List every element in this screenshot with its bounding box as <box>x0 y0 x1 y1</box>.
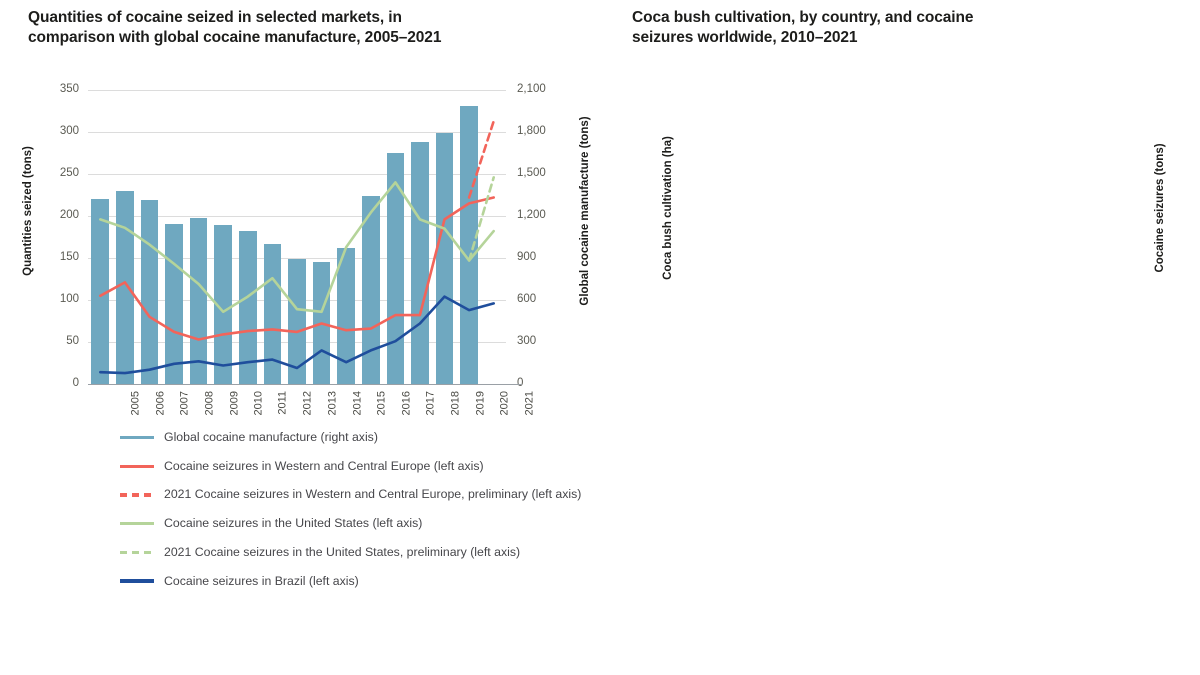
x-axis-tick-label: 2006 <box>154 391 166 415</box>
x-axis-tick-label: 2007 <box>179 391 191 415</box>
left-chart-title: Quantities of cocaine seized in selected… <box>28 8 448 49</box>
y-axis-secondary-tick-label: 300 <box>517 336 536 348</box>
bar-segment <box>190 218 208 384</box>
legend-line-key <box>120 465 154 468</box>
bar <box>362 90 380 384</box>
x-axis-tick-label: 2015 <box>376 391 388 415</box>
x-axis-tick-label: 2019 <box>474 391 486 415</box>
y-axis-secondary-tick-label: 1,800 <box>517 126 546 138</box>
bar-segment <box>362 196 380 384</box>
x-axis-tick-label: 2021 <box>523 391 535 415</box>
right-chart-panel: Coca bush cultivation, by country, and c… <box>600 0 1200 675</box>
legend-item-label: 2021 Cocaine seizures in Western and Cen… <box>164 487 581 503</box>
x-axis-tick-label: 2011 <box>276 391 288 415</box>
x-axis-tick-label: 2010 <box>253 391 265 415</box>
x-axis-tick-label: 2018 <box>449 391 461 415</box>
y-axis-secondary-tick-label: 900 <box>517 252 536 264</box>
x-axis-tick-label: 2014 <box>351 391 363 415</box>
left-plot-area: 050100150200250300350 03006009001,2001,5… <box>88 90 506 384</box>
x-axis-tick-label: 2009 <box>228 391 240 415</box>
right-chart-title: Coca bush cultivation, by country, and c… <box>632 8 1032 49</box>
bar-segment <box>288 259 306 384</box>
bar <box>239 90 257 384</box>
bar <box>91 90 109 384</box>
bar-segment <box>411 142 429 384</box>
y-axis-tick-label: 250 <box>60 168 79 180</box>
bar-segment <box>387 153 405 384</box>
bar-segment <box>436 133 454 384</box>
bar <box>387 90 405 384</box>
left-chart-legend-item: 2021 Cocaine seizures in Western and Cen… <box>120 487 590 503</box>
bar-segment <box>460 106 478 384</box>
legend-item-label: Cocaine seizures in the United States (l… <box>164 516 422 532</box>
left-y-axis-right-title: Global cocaine manufacture (tons) <box>579 96 591 326</box>
bar-segment <box>239 231 257 384</box>
left-chart-legend: Global cocaine manufacture (right axis)C… <box>120 430 590 602</box>
x-axis-tick-label: 2017 <box>425 391 437 415</box>
legend-line-swatch <box>120 516 154 531</box>
legend-item-label: Cocaine seizures in Brazil (left axis) <box>164 574 359 590</box>
bar-segment <box>313 262 331 384</box>
bar <box>190 90 208 384</box>
left-chart-legend-item: Cocaine seizures in Western and Central … <box>120 459 590 475</box>
left-chart-legend-item: Cocaine seizures in Brazil (left axis) <box>120 574 590 590</box>
bar <box>264 90 282 384</box>
left-x-axis-line <box>88 384 522 386</box>
legend-item-label: 2021 Cocaine seizures in the United Stat… <box>164 545 520 561</box>
left-y-axis-left-title: Quantities seized (tons) <box>22 121 34 301</box>
bar-segment <box>264 244 282 384</box>
y-axis-secondary-tick-label: 2,100 <box>517 84 546 96</box>
chart-page: Quantities of cocaine seized in selected… <box>0 0 1200 675</box>
x-axis-tick-label: 2012 <box>302 391 314 415</box>
legend-line-key <box>120 579 154 583</box>
bar <box>165 90 183 384</box>
legend-item-label: Global cocaine manufacture (right axis) <box>164 430 378 446</box>
legend-dashed-key <box>120 487 154 502</box>
y-axis-secondary-tick-label: 600 <box>517 294 536 306</box>
y-axis-tick-label: 50 <box>66 336 79 348</box>
x-axis-tick-label: 2016 <box>400 391 412 415</box>
bar-segment <box>214 225 232 384</box>
bar-segment <box>141 200 159 384</box>
bar <box>116 90 134 384</box>
x-axis-tick-label: 2013 <box>326 391 338 415</box>
legend-dashed-line-key <box>120 493 154 496</box>
left-chart-legend-item: Global cocaine manufacture (right axis) <box>120 430 590 446</box>
bar <box>214 90 232 384</box>
x-axis-tick-label: 2008 <box>204 391 216 415</box>
bar <box>436 90 454 384</box>
left-chart-legend-item: Cocaine seizures in the United States (l… <box>120 516 590 532</box>
legend-dashed-line-key <box>120 551 154 554</box>
left-chart-legend-item: 2021 Cocaine seizures in the United Stat… <box>120 545 590 561</box>
y-axis-tick-label: 0 <box>73 378 79 390</box>
legend-item-label: Cocaine seizures in Western and Central … <box>164 459 484 475</box>
bar-segment <box>116 191 134 384</box>
legend-line-key <box>120 436 154 439</box>
y-axis-secondary-tick-label: 1,200 <box>517 210 546 222</box>
x-axis-tick-label: 2020 <box>499 391 511 415</box>
bar <box>288 90 306 384</box>
legend-line-key <box>120 522 154 525</box>
x-axis-tick-label: 2005 <box>130 391 142 415</box>
y-axis-tick-label: 100 <box>60 294 79 306</box>
right-y-axis-left-title: Coca bush cultivation (ha) <box>662 118 674 298</box>
y-axis-tick-label: 350 <box>60 84 79 96</box>
legend-line-swatch <box>120 459 154 474</box>
bar <box>460 90 478 384</box>
y-axis-tick-label: 300 <box>60 126 79 138</box>
right-y-axis-right-title: Cocaine seizures (tons) <box>1154 118 1166 298</box>
bar <box>337 90 355 384</box>
y-axis-tick-label: 150 <box>60 252 79 264</box>
legend-line-swatch <box>120 574 154 589</box>
left-chart-panel: Quantities of cocaine seized in selected… <box>0 0 600 675</box>
bar-segment <box>337 248 355 385</box>
legend-line-swatch <box>120 430 154 445</box>
y-axis-tick-label: 200 <box>60 210 79 222</box>
bar <box>411 90 429 384</box>
legend-dashed-key <box>120 545 154 560</box>
bar-segment <box>165 224 183 384</box>
bar <box>313 90 331 384</box>
bar-segment <box>91 199 109 384</box>
y-axis-secondary-tick-label: 1,500 <box>517 168 546 180</box>
bar <box>141 90 159 384</box>
